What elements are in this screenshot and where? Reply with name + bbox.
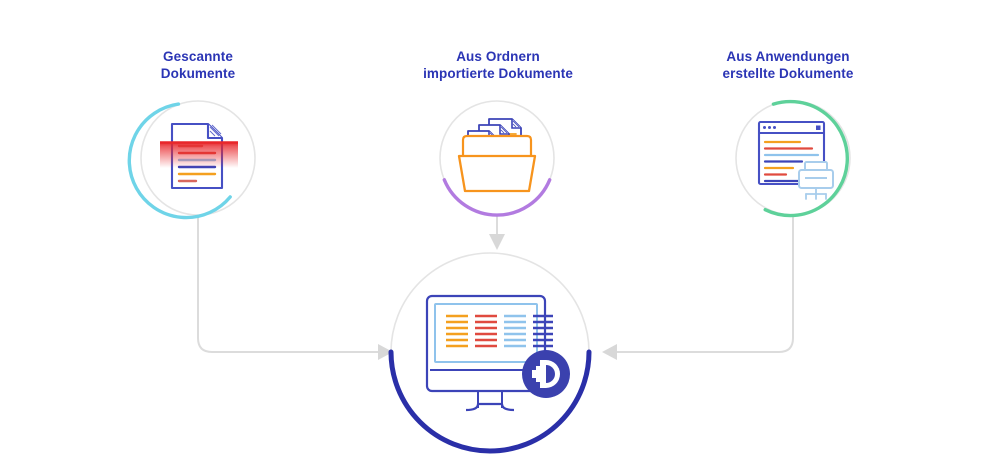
connector-scanned-to-hub bbox=[198, 216, 393, 360]
diagram-canvas: Gescannte Dokumente Aus Ordnern importie… bbox=[0, 0, 1000, 476]
connector-folder-to-hub bbox=[489, 216, 505, 250]
diagram-graphics bbox=[0, 0, 1000, 476]
source-node-folder[interactable] bbox=[440, 101, 554, 215]
source-node-applications[interactable] bbox=[736, 101, 850, 216]
scan-beam-glow bbox=[160, 142, 238, 168]
source-node-scanned[interactable] bbox=[129, 101, 255, 218]
docuware-logo-icon bbox=[522, 350, 570, 398]
hub-node[interactable] bbox=[391, 253, 589, 451]
connector-apps-to-hub bbox=[602, 216, 793, 360]
